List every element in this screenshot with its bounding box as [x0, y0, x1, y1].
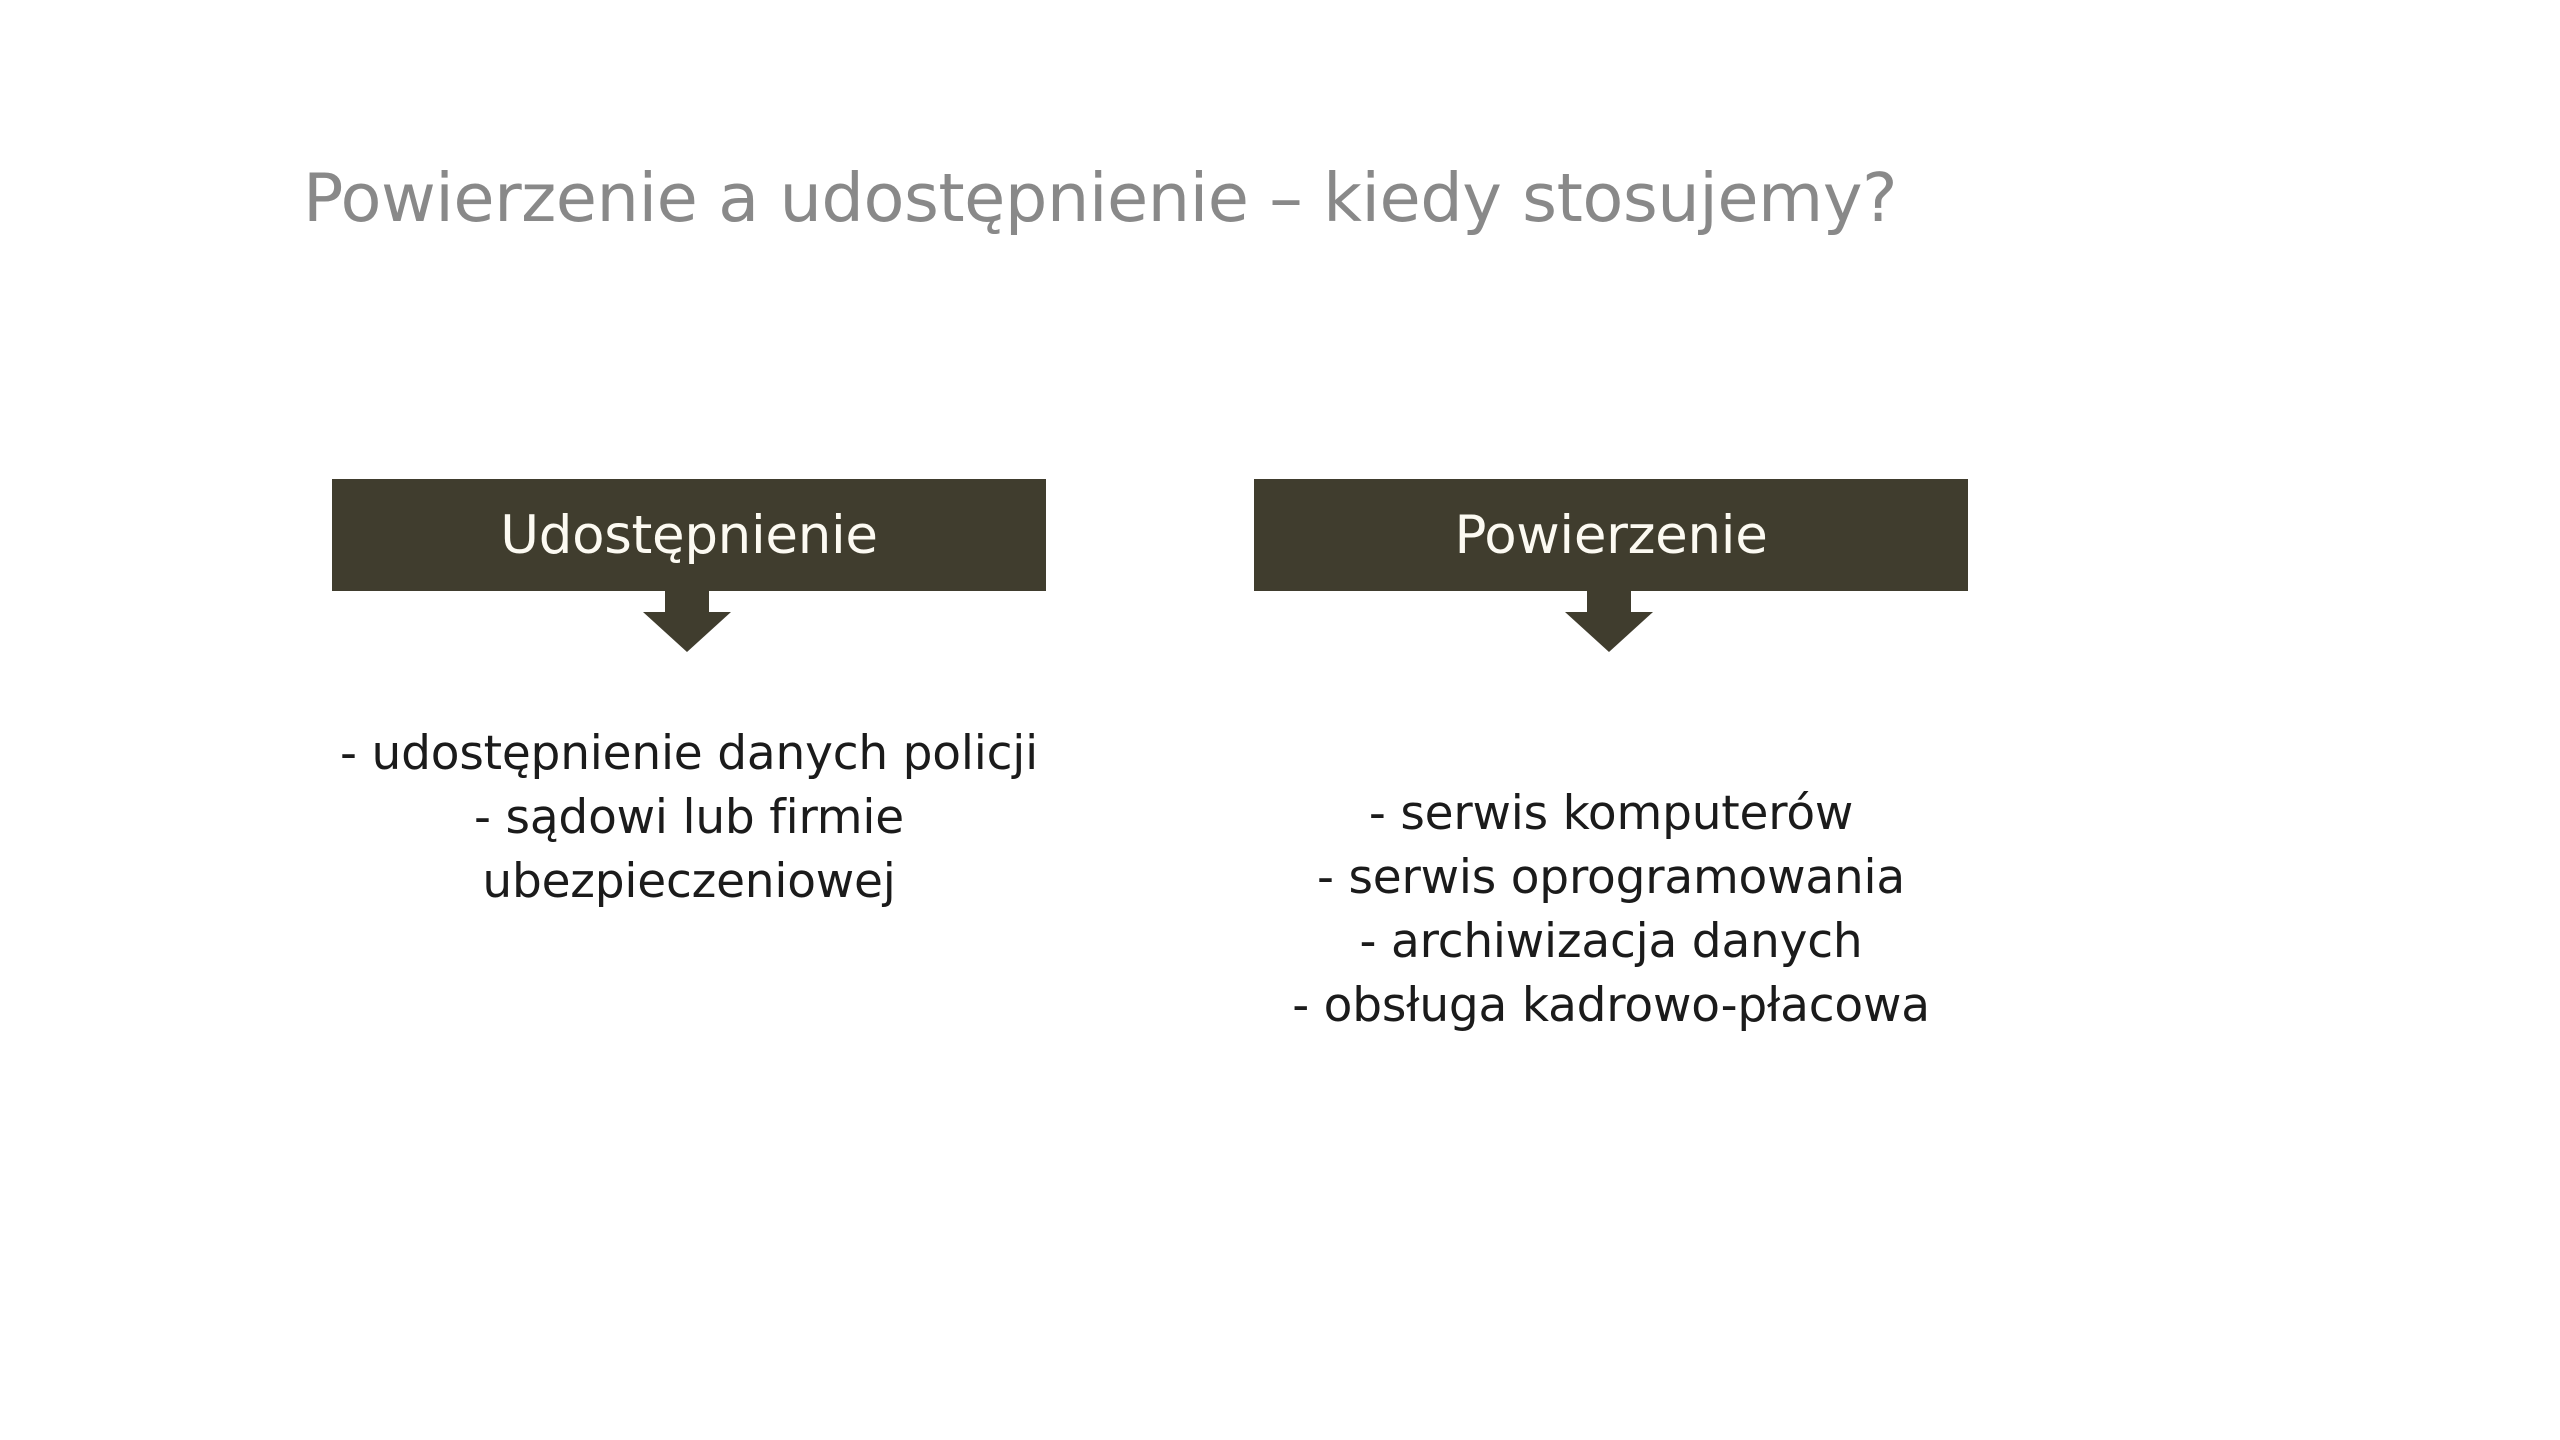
column-udostepnienie: Udostępnienie - udostępnienie danych pol… — [332, 0, 1046, 1440]
arrow-down-icon — [643, 590, 731, 652]
slide-canvas: Powierzenie a udostępnienie – kiedy stos… — [0, 0, 2560, 1440]
header-box-udostepnienie: Udostępnienie — [332, 479, 1046, 591]
list-item: - udostępnienie danych policji — [242, 722, 1136, 786]
header-box-powierzenie: Powierzenie — [1254, 479, 1968, 591]
list-item: - serwis komputerów — [1164, 782, 2058, 846]
list-item: ubezpieczeniowej — [242, 850, 1136, 914]
body-list-powierzenie: - serwis komputerów - serwis oprogramowa… — [1164, 782, 2058, 1038]
header-box-label: Powierzenie — [1454, 509, 1767, 562]
list-item: - archiwizacja danych — [1164, 910, 2058, 974]
list-item: - serwis oprogramowania — [1164, 846, 2058, 910]
arrow-down-icon — [1565, 590, 1653, 652]
list-item: - sądowi lub firmie — [242, 786, 1136, 850]
body-list-udostepnienie: - udostępnienie danych policji - sądowi … — [242, 722, 1136, 914]
list-item: - obsługa kadrowo-płacowa — [1164, 974, 2058, 1038]
column-powierzenie: Powierzenie - serwis komputerów - serwis… — [1254, 0, 1968, 1440]
header-box-label: Udostępnienie — [500, 509, 877, 562]
